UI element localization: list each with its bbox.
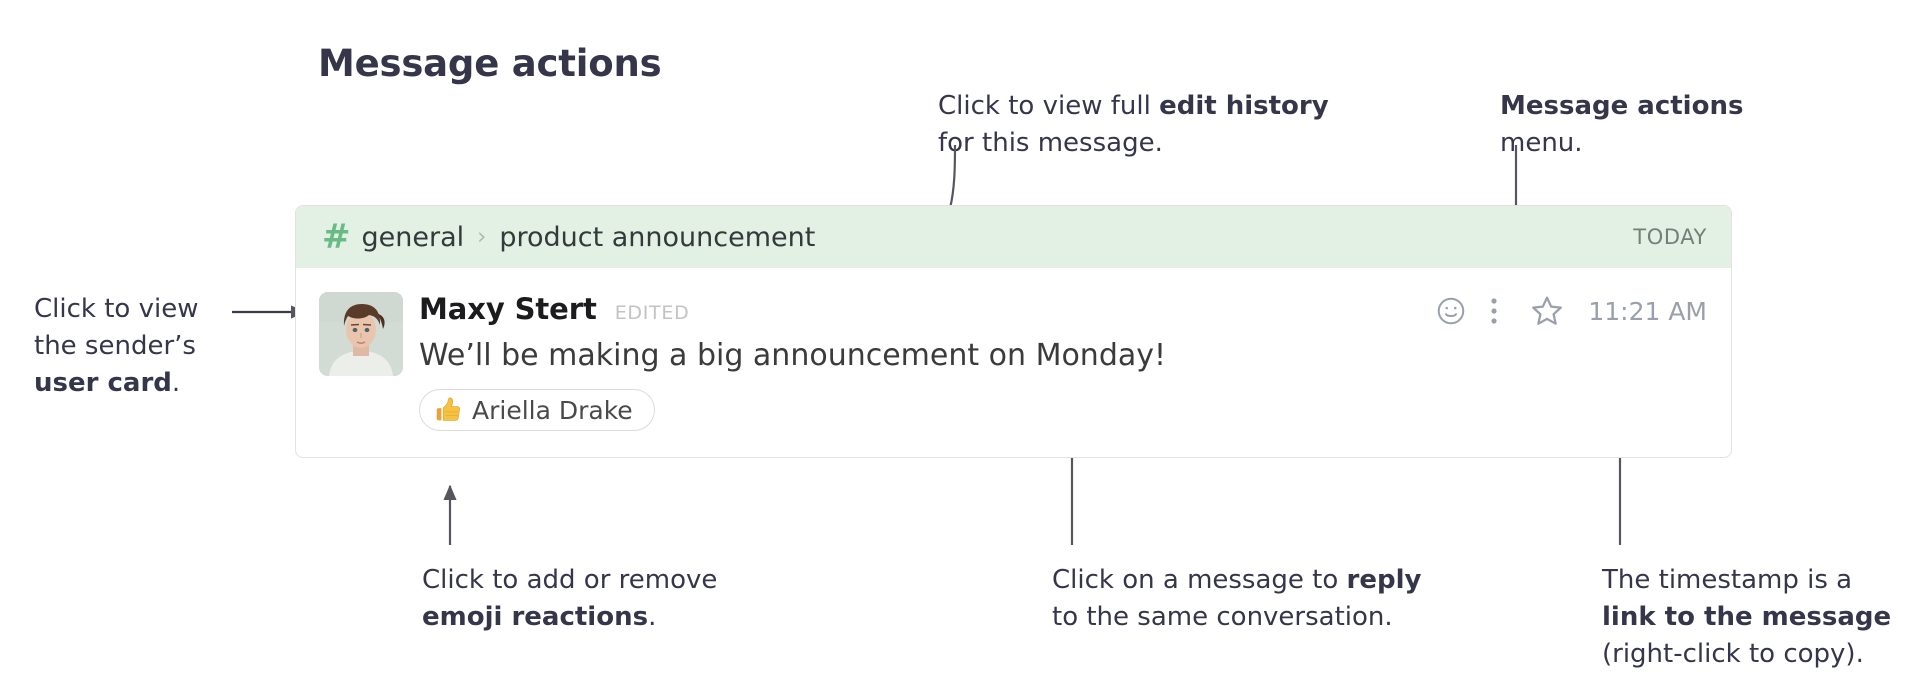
annotation-emoji-line1: Click to add or remove	[422, 562, 717, 599]
annotation-user-card: Click to view the sender’s user card.	[34, 291, 198, 402]
breadcrumb-separator-icon: ›	[477, 226, 486, 249]
reaction-row: Ariella Drake	[419, 389, 1707, 431]
annotation-reply: Click on a message to reply to the same …	[1052, 562, 1421, 636]
annotation-reply-bold: reply	[1347, 565, 1422, 595]
avatar[interactable]	[319, 292, 403, 376]
annotation-reply-prefix: Click on a message to	[1052, 565, 1347, 595]
thumbs-up-icon	[433, 395, 463, 425]
annotation-user-card-line2: the sender’s	[34, 328, 198, 365]
avatar-photo	[319, 292, 403, 376]
annotation-edit-history: Click to view full edit history for this…	[938, 88, 1329, 162]
annotation-user-card-line3: user card.	[34, 365, 198, 402]
annotation-user-card-bold: user card	[34, 368, 172, 398]
annotation-timestamp-line2: link to the message	[1602, 599, 1891, 636]
star-outline-icon[interactable]	[1528, 292, 1566, 330]
page-title: Message actions	[318, 42, 661, 85]
annotation-user-card-line1: Click to view	[34, 291, 198, 328]
message-body[interactable]: We’ll be making a big announcement on Mo…	[419, 337, 1707, 375]
annotation-timestamp-bold: link to the message	[1602, 602, 1891, 632]
hash-icon: #	[322, 220, 350, 254]
annotation-reply-line2: to the same conversation.	[1052, 599, 1421, 636]
annotation-emoji-suffix: .	[648, 602, 656, 632]
topic-name[interactable]: product announcement	[499, 222, 815, 253]
annotation-actions-menu: Message actions menu.	[1500, 88, 1743, 162]
annotation-reply-line1: Click on a message to reply	[1052, 562, 1421, 599]
message-card: # general › product announcement TODAY	[295, 205, 1732, 458]
annotation-emoji-line2: emoji reactions.	[422, 599, 717, 636]
edited-badge[interactable]: EDITED	[615, 302, 690, 324]
vertical-dots-icon[interactable]	[1480, 294, 1508, 328]
annotation-edit-history-line1: Click to view full edit history	[938, 88, 1329, 125]
annotation-edit-history-bold: edit history	[1159, 91, 1329, 121]
annotation-timestamp-line1: The timestamp is a	[1602, 562, 1891, 599]
message-timestamp[interactable]: 11:21 AM	[1588, 297, 1707, 326]
stream-name[interactable]: general	[362, 222, 465, 253]
annotation-edit-history-prefix: Click to view full	[938, 91, 1159, 121]
emoji-reaction-icon[interactable]	[1434, 294, 1468, 328]
annotation-actions-menu-line2: menu.	[1500, 125, 1743, 162]
annotation-emoji-bold: emoji reactions	[422, 602, 648, 632]
annotation-emoji-reactions: Click to add or remove emoji reactions.	[422, 562, 717, 636]
annotation-edit-history-line2: for this message.	[938, 125, 1329, 162]
annotation-timestamp-link: The timestamp is a link to the message (…	[1602, 562, 1891, 673]
sender-name[interactable]: Maxy Stert	[419, 292, 597, 326]
date-label: TODAY	[1633, 225, 1707, 249]
annotation-actions-menu-bold: Message actions	[1500, 91, 1743, 121]
reaction-chip[interactable]: Ariella Drake	[419, 389, 655, 431]
annotation-timestamp-line3: (right-click to copy).	[1602, 636, 1891, 673]
annotation-actions-menu-line1: Message actions	[1500, 88, 1743, 125]
stream-topic-header: # general › product announcement TODAY	[296, 206, 1731, 268]
reaction-label: Ariella Drake	[472, 396, 633, 425]
message-row[interactable]: Maxy Stert EDITED We’ll be making a big …	[296, 268, 1731, 457]
message-controls: 11:21 AM	[1434, 294, 1707, 328]
annotation-user-card-suffix: .	[172, 368, 180, 398]
